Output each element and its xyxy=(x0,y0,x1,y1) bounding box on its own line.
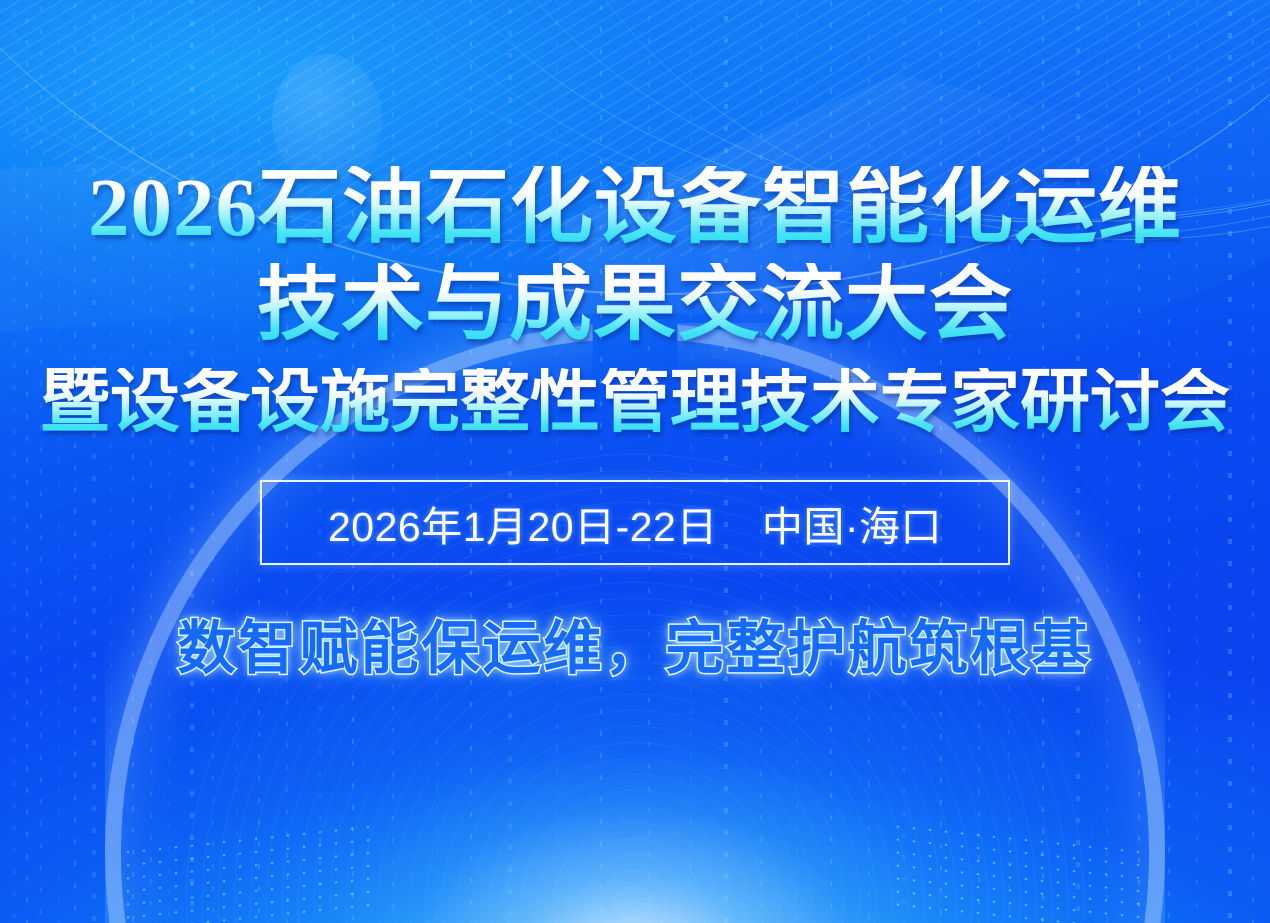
title-line-2: 技术与成果交流大会 xyxy=(257,263,1013,346)
banner-content: 2026石油石化设备智能化运维 技术与成果交流大会 暨设备设施完整性管理技术专家… xyxy=(0,0,1270,923)
subtitle: 暨设备设施完整性管理技术专家研讨会 xyxy=(40,368,1230,438)
slogan: 数智赋能保运维，完整护航筑根基 xyxy=(177,601,1092,685)
title-line-1: 2026石油石化设备智能化运维 xyxy=(88,166,1182,249)
date-location-box: 2026年1月20日-22日 中国·海口 xyxy=(260,480,1010,565)
event-location: 中国·海口 xyxy=(762,493,942,553)
conference-banner: 2026石油石化设备智能化运维 技术与成果交流大会 暨设备设施完整性管理技术专家… xyxy=(0,0,1270,923)
event-date: 2026年1月20日-22日 xyxy=(328,493,718,553)
